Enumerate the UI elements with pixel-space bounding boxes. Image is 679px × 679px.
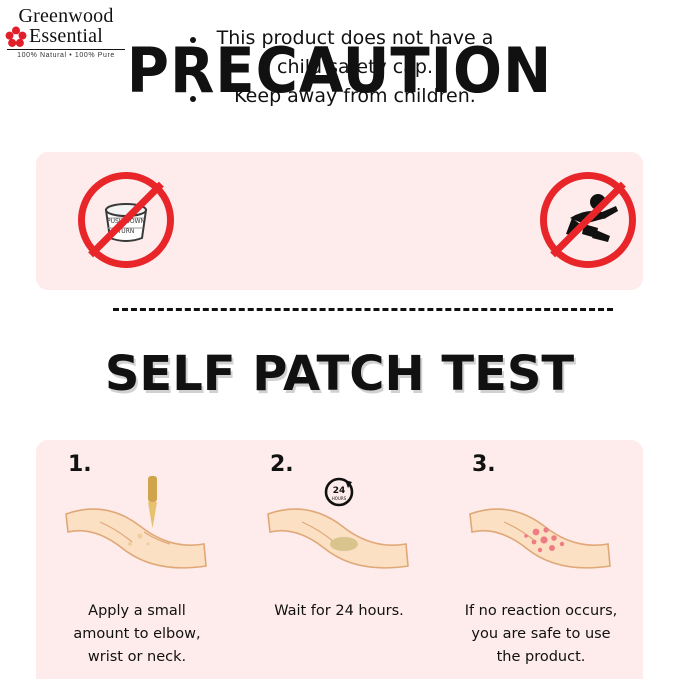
page-title-patch-test: SELF PATCH TEST bbox=[0, 346, 679, 402]
patch-test-panel: 1. Apply a small amount to elbow, wrist … bbox=[36, 440, 643, 679]
24-hours-clock-icon: 24 HOURS bbox=[246, 470, 432, 580]
badge-number: 24 bbox=[333, 486, 346, 496]
badge-unit: HOURS bbox=[332, 496, 347, 501]
patch-test-step-3: 3. If no reaction occurs, you are sa bbox=[440, 440, 642, 679]
precaution-text: This product does not have a child safet… bbox=[190, 24, 520, 111]
brand-name-line1: Greenwood bbox=[4, 6, 128, 26]
precaution-line-2: child safety cap. bbox=[190, 53, 520, 82]
infographic-page: Greenwood Essential 100% Natural • 100% … bbox=[0, 0, 679, 679]
dropper-on-elbow-icon bbox=[44, 470, 230, 580]
dropper-graphic bbox=[148, 476, 157, 528]
step-caption-text: Wait for 24 hours. bbox=[244, 600, 434, 623]
precaution-line-1: This product does not have a bbox=[190, 24, 520, 53]
patch-test-step-1: 1. Apply a small amount to elbow, wrist … bbox=[36, 440, 238, 679]
elbow-rash-icon bbox=[448, 470, 634, 580]
step-caption: If no reaction occurs, you are safe to u… bbox=[446, 600, 636, 669]
patch-test-step-2: 2. 24 HOURS Wait for 24 hours. bbox=[238, 440, 440, 679]
clock-badge: 24 HOURS bbox=[326, 479, 352, 505]
step-caption-text: If no reaction occurs, you are safe to u… bbox=[446, 600, 636, 669]
no-children-icon bbox=[540, 172, 636, 268]
precaution-line-3: Keep away from children. bbox=[190, 82, 520, 111]
dashed-divider bbox=[113, 308, 613, 311]
no-push-down-turn-cap-icon: PUSH DOWN TURN bbox=[78, 172, 174, 268]
step-caption: Wait for 24 hours. bbox=[244, 600, 434, 623]
step-caption: Apply a small amount to elbow, wrist or … bbox=[42, 600, 232, 669]
step-caption-text: Apply a small amount to elbow, wrist or … bbox=[42, 600, 232, 669]
